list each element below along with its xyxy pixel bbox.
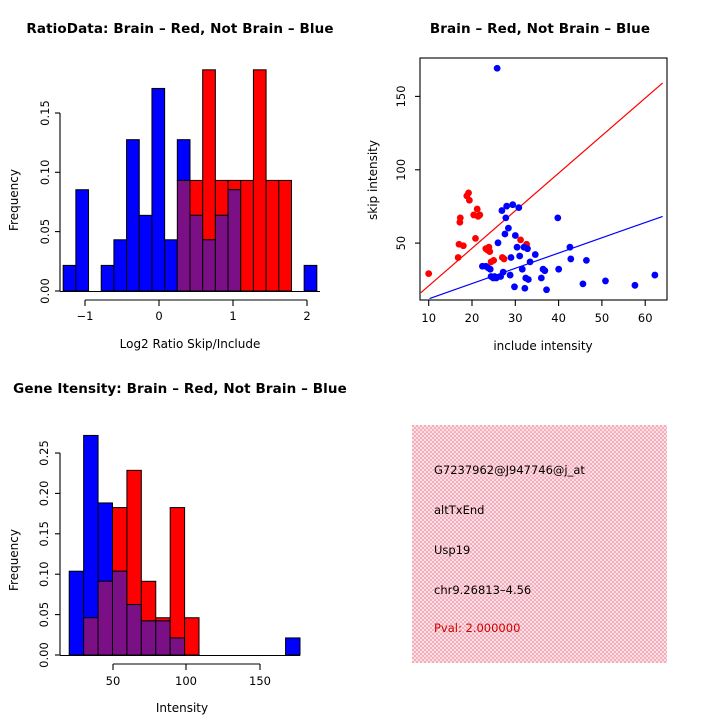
scatter-point — [476, 212, 483, 219]
ratio-histogram-xlabel: Log2 Ratio Skip/Include — [120, 337, 261, 351]
scatter-xtick-50: 50 — [595, 311, 610, 325]
histogram-bar-overlap — [203, 240, 216, 291]
gene-ytick-1: 0.05 — [37, 602, 51, 628]
histogram-bar — [98, 503, 112, 581]
histogram-bar — [127, 470, 141, 604]
ratio-ytick-3: 0.15 — [38, 100, 52, 126]
gene-histogram-ylabel: Frequency — [7, 529, 21, 591]
gene-ytick-4: 0.20 — [37, 481, 51, 507]
scatter-point — [457, 214, 464, 221]
gene-ytick-5: 0.25 — [37, 440, 51, 466]
fit-line-brain-fit — [421, 83, 663, 293]
scatter-point — [487, 266, 494, 273]
scatter-point — [503, 203, 510, 210]
histogram-bar-overlap — [177, 180, 190, 291]
scatter-point — [517, 236, 524, 243]
histogram-bar — [215, 180, 228, 215]
scatter-point — [466, 197, 473, 204]
scatter-point — [511, 283, 518, 290]
scatter-point — [472, 235, 479, 242]
panel-ratio-histogram: RatioData: Brain – Red, Not Brain – Blue… — [0, 0, 360, 360]
panel-intensity-scatter: Brain – Red, Not Brain – Blue 150 100 50 — [360, 0, 720, 360]
histogram-bar — [139, 215, 152, 291]
histogram-bar — [152, 88, 165, 291]
ratio-xtick-3: 2 — [303, 309, 310, 323]
gene-histogram-svg: 0.25 0.20 0.15 0.10 0.05 0.00 50 100 150… — [0, 360, 360, 720]
scatter-plot-box — [420, 58, 667, 300]
scatter-point — [505, 225, 512, 232]
histogram-bar — [190, 180, 203, 215]
histogram-bar — [114, 240, 127, 291]
scatter-point — [602, 278, 609, 285]
ratio-xtick-2: 1 — [229, 309, 236, 323]
ratio-histogram-x-axis: −1 0 1 2 — [77, 300, 311, 323]
ratio-histogram-title: RatioData: Brain – Red, Not Brain – Blue — [0, 21, 360, 37]
ratio-histogram-bars — [63, 70, 317, 291]
scatter-point — [554, 214, 561, 221]
gene-xtick-50: 50 — [106, 674, 121, 688]
probe-id-text: G7237962@J947746@j_at — [434, 463, 585, 477]
gene-histogram-bars — [69, 435, 300, 655]
histogram-bar — [286, 638, 300, 655]
histogram-bar-overlap — [156, 621, 170, 655]
scatter-point — [515, 204, 522, 211]
scatter-point — [567, 256, 574, 263]
scatter-point — [486, 248, 493, 255]
plot-canvas: RatioData: Brain – Red, Not Brain – Blue… — [0, 0, 720, 720]
scatter-ytick-50: 50 — [394, 236, 408, 251]
ratio-ytick-1: 0.05 — [38, 219, 52, 245]
gene-xtick-100: 100 — [175, 674, 197, 688]
histogram-bar — [63, 265, 76, 291]
scatter-ylabel: skip intensity — [366, 140, 380, 220]
histogram-bar-overlap — [127, 605, 141, 655]
scatter-point — [583, 257, 590, 264]
gene-histogram-x-axis: 50 100 150 — [106, 664, 271, 688]
gene-histogram-y-axis: 0.25 0.20 0.15 0.10 0.05 0.00 — [37, 440, 60, 668]
scatter-point — [465, 190, 472, 197]
ratio-histogram-y-axis: 0.15 0.10 0.05 0.00 — [38, 100, 60, 304]
ratio-histogram-ylabel: Frequency — [7, 169, 21, 231]
panel-probe-info: G7237962@J947746@j_at altTxEnd Usp19 chr… — [360, 360, 720, 720]
histogram-bar — [101, 265, 114, 291]
scatter-xtick-10: 10 — [421, 311, 436, 325]
scatter-point — [651, 272, 658, 279]
scatter-point — [460, 242, 467, 249]
histogram-bar — [241, 180, 254, 291]
panel-gene-intensity-histogram: Gene Itensity: Brain – Red, Not Brain – … — [0, 360, 360, 720]
scatter-x-axis: 10 20 30 40 50 60 — [421, 300, 652, 325]
gene-symbol-text: Usp19 — [434, 543, 470, 557]
histogram-bar-overlap — [112, 571, 126, 655]
gene-ytick-3: 0.15 — [37, 521, 51, 547]
histogram-bar-overlap — [98, 581, 112, 655]
scatter-ytick-100: 100 — [394, 159, 408, 181]
pvalue-text: Pval: 2.000000 — [434, 621, 520, 635]
histogram-bar-overlap — [84, 618, 98, 655]
scatter-point — [455, 254, 462, 261]
scatter-xtick-30: 30 — [508, 311, 523, 325]
scatter-point — [519, 266, 526, 273]
ratio-ytick-0: 0.00 — [38, 278, 52, 304]
histogram-bar — [84, 435, 98, 617]
scatter-point — [512, 232, 519, 239]
gene-ytick-0: 0.00 — [37, 642, 51, 668]
scatter-point — [524, 245, 531, 252]
scatter-point — [495, 239, 502, 246]
histogram-bar — [76, 190, 89, 291]
scatter-point — [507, 272, 514, 279]
ratio-xtick-1: 0 — [155, 309, 162, 323]
histogram-bar — [266, 180, 279, 291]
gene-histogram-title: Gene Itensity: Brain – Red, Not Brain – … — [0, 381, 360, 397]
histogram-bar-overlap — [215, 215, 228, 291]
event-type-text: altTxEnd — [434, 503, 484, 517]
histogram-bar — [177, 140, 190, 181]
scatter-point — [508, 254, 515, 261]
histogram-bar-overlap — [228, 190, 241, 291]
gene-xtick-150: 150 — [249, 674, 271, 688]
histogram-bar — [228, 180, 241, 189]
scatter-point — [516, 253, 523, 260]
histogram-bar-overlap — [141, 621, 155, 655]
scatter-title: Brain – Red, Not Brain – Blue — [360, 21, 720, 37]
histogram-bar — [165, 240, 178, 291]
ratio-ytick-2: 0.10 — [38, 159, 52, 185]
scatter-point — [543, 286, 550, 293]
scatter-xtick-60: 60 — [638, 311, 653, 325]
scatter-point — [502, 231, 509, 238]
histogram-bar — [141, 581, 155, 621]
histogram-bar — [69, 571, 83, 655]
scatter-xlabel: include intensity — [493, 339, 592, 353]
scatter-point — [490, 257, 497, 264]
histogram-bar — [253, 70, 266, 291]
ratio-histogram-svg: 0.15 0.10 0.05 0.00 −1 0 1 2 Log2 Ratio … — [0, 0, 360, 360]
histogram-bar — [185, 618, 199, 655]
histogram-bar — [279, 180, 292, 291]
scatter-xtick-20: 20 — [465, 311, 480, 325]
scatter-point — [509, 201, 516, 208]
histogram-bar — [304, 265, 317, 291]
scatter-point — [502, 214, 509, 221]
scatter-y-axis: 150 100 50 — [394, 85, 420, 250]
scatter-point — [525, 276, 532, 283]
fit-line-not-brain-fit — [430, 216, 663, 298]
scatter-point — [425, 270, 432, 277]
gene-histogram-xlabel: Intensity — [156, 701, 208, 715]
scatter-point — [514, 244, 521, 251]
scatter-point — [500, 269, 507, 276]
scatter-point — [474, 206, 481, 213]
gene-ytick-2: 0.10 — [37, 561, 51, 587]
scatter-svg: 150 100 50 10 20 30 40 50 60 include int… — [360, 0, 720, 360]
scatter-ytick-150: 150 — [394, 85, 408, 107]
scatter-point — [494, 65, 501, 72]
scatter-point — [580, 280, 587, 287]
histogram-bar — [170, 508, 184, 638]
scatter-point — [521, 285, 528, 292]
histogram-bar-overlap — [190, 215, 203, 291]
scatter-point — [538, 275, 545, 282]
scatter-point — [527, 258, 534, 265]
scatter-point — [567, 244, 574, 251]
scatter-xtick-40: 40 — [551, 311, 566, 325]
histogram-bar — [203, 70, 216, 240]
histogram-bar-overlap — [170, 638, 184, 655]
locus-text: chr9.26813–4.56 — [434, 583, 531, 597]
probe-info-box: G7237962@J947746@j_at altTxEnd Usp19 chr… — [412, 425, 667, 663]
scatter-point — [532, 251, 539, 258]
histogram-bar — [127, 140, 140, 291]
ratio-xtick-0: −1 — [77, 309, 94, 323]
scatter-point — [632, 282, 639, 289]
histogram-bar — [112, 508, 126, 572]
scatter-point — [541, 267, 548, 274]
scatter-point — [555, 266, 562, 273]
scatter-point — [501, 256, 508, 263]
